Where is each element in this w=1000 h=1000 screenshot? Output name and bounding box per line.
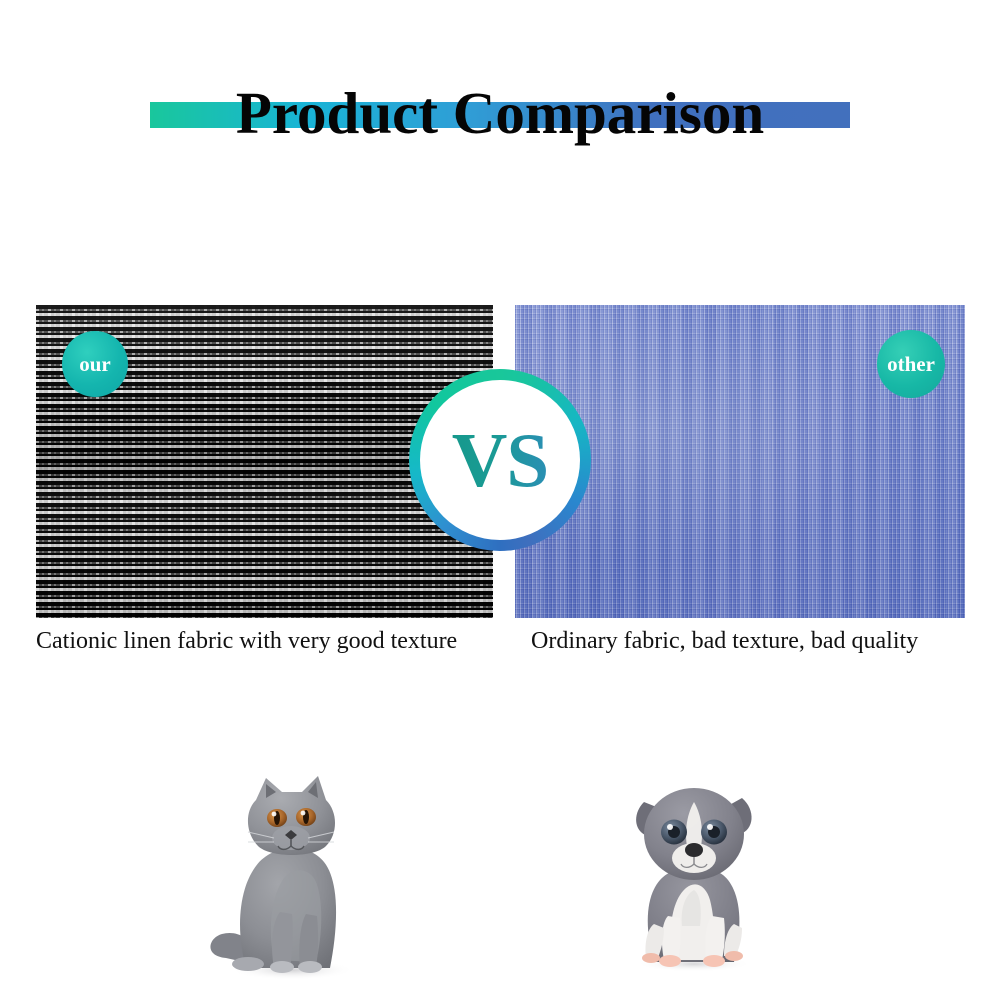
our-fabric-caption: Cationic linen fabric with very good tex… xyxy=(36,626,457,656)
page-title: Product Comparison xyxy=(0,78,1000,148)
other-badge: other xyxy=(877,330,945,398)
other-fabric-caption: Ordinary fabric, bad texture, bad qualit… xyxy=(531,626,918,656)
cat-photo xyxy=(196,762,378,980)
vs-emblem: VS xyxy=(409,369,591,551)
our-badge: our xyxy=(62,331,128,397)
dog-photo xyxy=(606,776,782,972)
page-header: Product Comparison xyxy=(0,78,1000,148)
vs-label: VS xyxy=(452,422,548,499)
other-badge-label: other xyxy=(887,352,935,377)
our-badge-label: our xyxy=(79,352,111,377)
vs-inner-circle: VS xyxy=(420,380,580,540)
